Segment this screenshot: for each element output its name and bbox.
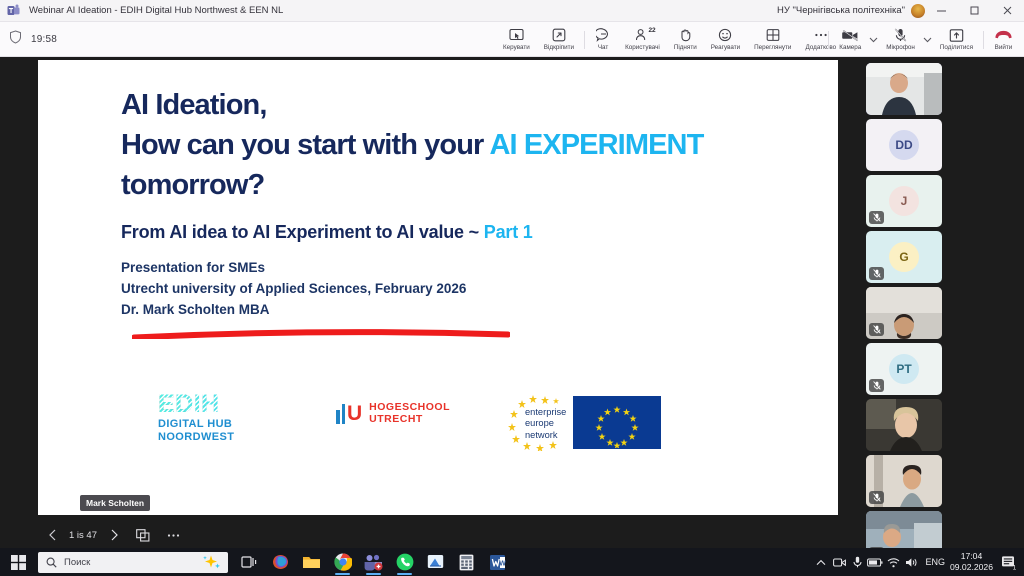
slide-title-line2: How can you start with your AI EXPERIMEN…: [121, 125, 781, 165]
camera-off-icon: [842, 28, 859, 42]
running-indicator: [335, 573, 350, 575]
react-label: Реагувати: [711, 44, 740, 51]
camera-options-chevron-down-icon[interactable]: [868, 22, 879, 57]
taskbar-apps: W: [234, 548, 513, 576]
unpin-icon: [552, 28, 566, 42]
video-feed: [866, 63, 942, 115]
hu-logo-letter: U: [347, 403, 362, 424]
search-placeholder: Поиск: [64, 557, 90, 568]
take-control-icon: [509, 28, 524, 42]
meeting-stage: AI Ideation, How can you start with your…: [0, 57, 862, 548]
participants-label: Користувачі: [625, 44, 660, 51]
chrome-icon[interactable]: [327, 548, 358, 576]
participant-dd[interactable]: DD: [866, 119, 942, 171]
start-button[interactable]: [0, 548, 36, 576]
mic-off-icon: [894, 28, 907, 42]
svg-text:1: 1: [1013, 564, 1017, 570]
shield-icon: [9, 30, 22, 49]
battery-icon[interactable]: [866, 548, 884, 576]
slide-navigation-bar: 1 is 47: [38, 523, 538, 547]
teams-icon[interactable]: [358, 548, 389, 576]
toolbar-divider-right: [828, 31, 829, 49]
react-icon: [718, 28, 732, 42]
slide-logo-row: EDIH DIGITAL HUB NOORDWEST U HOGESCHOOL …: [38, 385, 838, 465]
meeting-toolbar: 19:58 Керувати Відкріпити Чат 22: [0, 22, 1024, 57]
slide-subtitle-main: From AI idea to AI Experiment to AI valu…: [121, 222, 484, 242]
calculator-icon[interactable]: [451, 548, 482, 576]
next-slide-button[interactable]: [100, 523, 128, 547]
een-logo-line3: network: [525, 430, 566, 441]
avatar: G: [889, 242, 919, 272]
window-title: Webinar AI Ideation - EDIH Digital Hub N…: [29, 5, 283, 16]
camera-icon[interactable]: [830, 548, 848, 576]
avatar-initials: J: [901, 194, 908, 208]
teams-icon: [7, 4, 20, 17]
snipping-tool-icon[interactable]: [420, 548, 451, 576]
participant-video-4[interactable]: [866, 455, 942, 507]
whatsapp-icon[interactable]: [389, 548, 420, 576]
presenter-nametag: Mark Scholten: [80, 495, 150, 511]
hu-logo-bars-icon: [336, 404, 347, 424]
share-screen-label: Поділитися: [940, 44, 973, 51]
red-underline-decoration: [132, 326, 510, 336]
hogeschool-utrecht-logo: U HOGESCHOOL UTRECHT: [336, 402, 450, 426]
slide-counter: 1 is 47: [66, 530, 100, 541]
leave-button[interactable]: Вийти: [987, 22, 1020, 57]
avatar: J: [889, 186, 919, 216]
minimize-button[interactable]: [925, 0, 958, 22]
mic-off-icon: [869, 267, 884, 280]
view-button[interactable]: Переглянути: [747, 22, 798, 57]
hu-logo-line2: UTRECHT: [369, 414, 450, 426]
een-logo-line2: europe: [525, 418, 566, 429]
word-icon[interactable]: W: [482, 548, 513, 576]
close-button[interactable]: [991, 0, 1024, 22]
copilot-icon[interactable]: [265, 548, 296, 576]
leave-label: Вийти: [995, 44, 1013, 51]
een-logo-text: enterprise europe network: [525, 407, 566, 441]
show-hidden-icons[interactable]: [812, 548, 830, 576]
toolbar-call-controls: Камера Мікрофон Поділитися Вийти: [825, 22, 1020, 57]
hu-logo-line1: HOGESCHOOL: [369, 402, 450, 414]
running-indicator: [366, 573, 381, 575]
language-indicator[interactable]: ENG: [925, 557, 945, 567]
participant-j[interactable]: J: [866, 175, 942, 227]
slide-meta-line2: Utrecht university of Applied Sciences, …: [121, 279, 741, 300]
camera-label: Камера: [839, 44, 861, 51]
meeting-duration: 19:58: [31, 34, 57, 45]
more-options-icon[interactable]: [158, 523, 188, 547]
participant-pt[interactable]: PT: [866, 343, 942, 395]
mic-off-icon: [869, 211, 884, 224]
notifications-icon[interactable]: 1: [998, 548, 1020, 576]
microphone-label: Мікрофон: [886, 44, 915, 51]
camera-button[interactable]: Камера: [832, 22, 868, 57]
mic-off-icon: [869, 491, 884, 504]
edih-logo: EDIH DIGITAL HUB NOORDWEST: [158, 393, 253, 444]
european-union-flag-logo: [573, 396, 661, 449]
video-feed: [866, 399, 942, 451]
running-indicator: [397, 573, 412, 575]
windows-taskbar: Поиск W: [0, 548, 1024, 576]
participant-video-3[interactable]: [866, 399, 942, 451]
wifi-icon[interactable]: [884, 548, 902, 576]
participant-g[interactable]: G: [866, 231, 942, 283]
raise-hand-icon: [679, 28, 692, 42]
microphone-icon[interactable]: [848, 548, 866, 576]
raise-hand-label: Підняти: [674, 44, 697, 51]
slide-title-line3: tomorrow?: [121, 165, 781, 205]
avatar: PT: [889, 354, 919, 384]
hu-logo-text: HOGESCHOOL UTRECHT: [369, 402, 450, 426]
slide-meta-line3: Dr. Mark Scholten MBA: [121, 300, 741, 321]
view-label: Переглянути: [754, 44, 791, 51]
toolbar-actions: Керувати Відкріпити Чат 22 Користувачі: [496, 22, 843, 57]
maximize-button[interactable]: [958, 0, 991, 22]
edih-logo-sub2: NOORDWEST: [158, 431, 253, 444]
clock-date: 09.02.2026: [950, 562, 993, 573]
shared-slide[interactable]: AI Ideation, How can you start with your…: [38, 60, 838, 515]
unpin-label: Відкріпити: [544, 44, 574, 51]
slide-meta-line1: Presentation for SMEs: [121, 258, 741, 279]
participants-button[interactable]: 22 Користувачі: [618, 22, 667, 57]
slide-title: AI Ideation, How can you start with your…: [121, 85, 781, 205]
edih-logo-sub1: DIGITAL HUB: [158, 418, 253, 431]
people-icon: 22: [635, 28, 649, 42]
take-control-button[interactable]: Керувати: [496, 22, 537, 57]
toolbar-divider: [584, 31, 585, 49]
participant-count: 22: [648, 27, 655, 34]
mic-off-icon: [869, 323, 884, 336]
participant-roster: DD J G: [862, 57, 1024, 548]
user-avatar[interactable]: [911, 4, 925, 18]
file-explorer-icon[interactable]: [296, 548, 327, 576]
take-control-label: Керувати: [503, 44, 530, 51]
avatar-initials: DD: [895, 138, 912, 152]
chat-button[interactable]: Чат: [588, 22, 618, 57]
copilot-sparkle-icon[interactable]: [200, 554, 222, 570]
search-icon: [46, 557, 57, 568]
slide-title-line1: AI Ideation,: [121, 85, 781, 125]
participant-video-2[interactable]: [866, 287, 942, 339]
edih-logo-word: EDIH: [158, 393, 253, 417]
participant-video-1[interactable]: [866, 63, 942, 115]
slide-subtitle-accent: Part 1: [484, 222, 533, 242]
clock[interactable]: 17:04 09.02.2026: [950, 551, 993, 572]
microphone-options-chevron-down-icon[interactable]: [922, 22, 933, 57]
share-screen-icon: [949, 28, 964, 42]
chat-icon: [596, 28, 611, 42]
slide-title-line2-plain: How can you start with your: [121, 129, 490, 161]
system-tray: ENG 17:04 09.02.2026 1: [812, 548, 1024, 576]
avatar-initials: G: [899, 250, 908, 264]
eu-stars-icon: [574, 397, 660, 448]
avatar: DD: [889, 130, 919, 160]
window-titlebar: Webinar AI Ideation - EDIH Digital Hub N…: [0, 0, 1024, 22]
hangup-icon: [994, 28, 1013, 42]
previous-slide-button[interactable]: [38, 523, 66, 547]
chat-label: Чат: [598, 44, 608, 51]
slide-meta: Presentation for SMEs Utrecht university…: [121, 258, 741, 321]
slide-subtitle: From AI idea to AI Experiment to AI valu…: [121, 222, 781, 243]
participant-grid: DD J G: [866, 63, 1020, 576]
avatar-initials: PT: [896, 362, 911, 376]
raise-hand-button[interactable]: Підняти: [667, 22, 704, 57]
volume-icon[interactable]: [902, 548, 920, 576]
mic-off-icon: [869, 379, 884, 392]
microphone-button[interactable]: Мікрофон: [879, 22, 922, 57]
toolbar-divider-leave: [983, 31, 984, 49]
unpin-button[interactable]: Відкріпити: [537, 22, 581, 57]
search-input[interactable]: Поиск: [38, 552, 228, 573]
slide-layout-icon[interactable]: [128, 523, 158, 547]
share-screen-button[interactable]: Поділитися: [933, 22, 980, 57]
clock-time: 17:04: [950, 551, 993, 562]
view-icon: [766, 28, 780, 42]
een-logo-line1: enterprise: [525, 407, 566, 418]
task-view-icon[interactable]: [234, 548, 265, 576]
slide-title-highlight: AI EXPERIMENT: [490, 129, 704, 161]
enterprise-europe-network-logo: enterprise europe network: [503, 393, 581, 451]
react-button[interactable]: Реагувати: [704, 22, 747, 57]
organization-name: НУ "Чернігівська політехніка": [777, 5, 905, 16]
svg-text:W: W: [499, 560, 506, 567]
